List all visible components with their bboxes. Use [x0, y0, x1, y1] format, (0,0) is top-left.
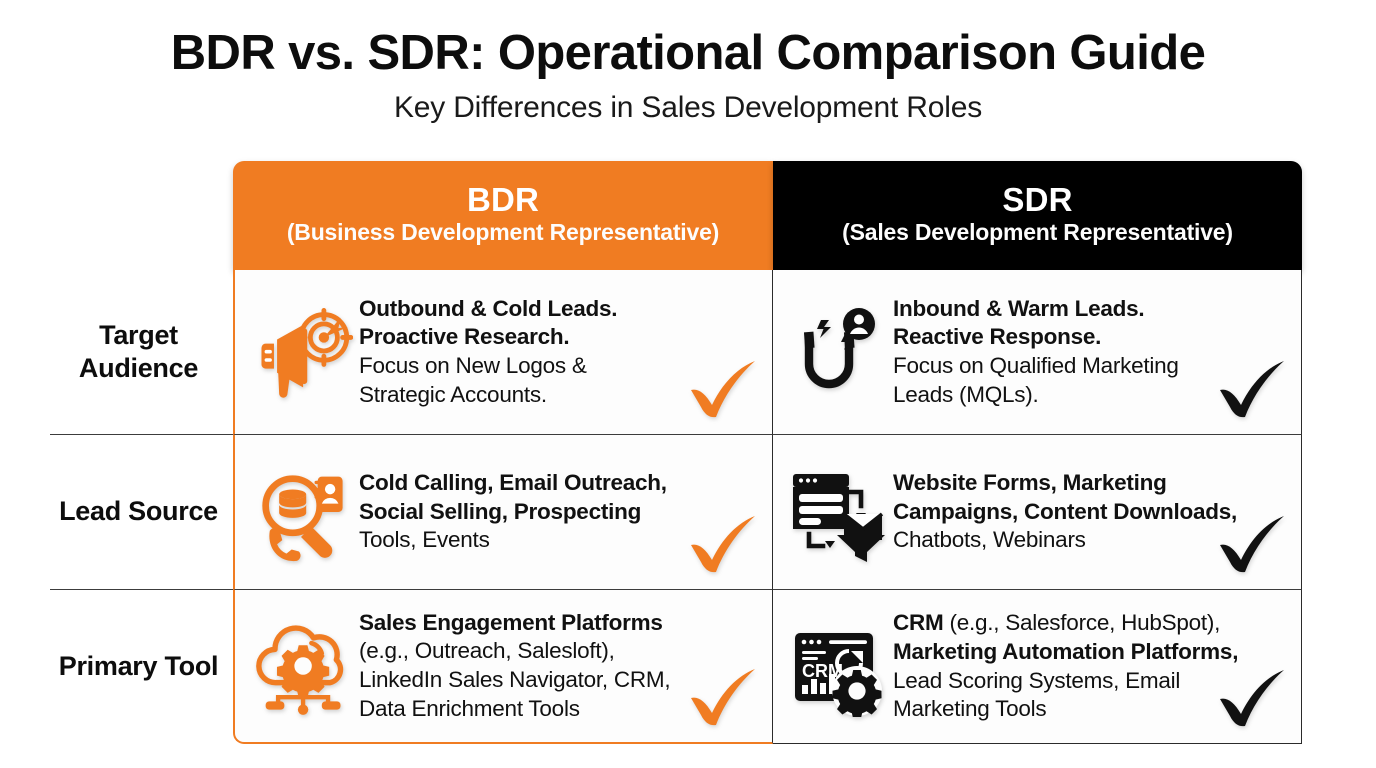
text-line: Marketing Tools	[893, 695, 1238, 724]
text-bold-segment: CRM	[893, 610, 944, 635]
column-header-sdr: SDR (Sales Development Representative)	[773, 161, 1302, 270]
magnet-person-icon	[787, 302, 887, 402]
text-line: Strategic Accounts.	[359, 381, 702, 410]
column-header-bdr: BDR (Business Development Representative…	[233, 161, 773, 270]
row-label-line1: Lead	[59, 496, 121, 526]
text-line: Outbound & Cold Leads.	[359, 295, 702, 324]
column-header-bdr-full: (Business Development Representative)	[287, 219, 719, 246]
text-line: Website Forms, Marketing	[893, 469, 1237, 498]
text-line: LinkedIn Sales Navigator, CRM,	[359, 666, 702, 695]
row-label-primary-tool: Primary Tool	[50, 589, 233, 744]
column-header-bdr-abbr: BDR	[467, 182, 539, 219]
page-title: BDR vs. SDR: Operational Comparison Guid…	[0, 28, 1376, 80]
magnifier-database-contact-phone-icon	[249, 460, 353, 564]
crm-dashboard-gear-icon: CRM	[787, 617, 887, 717]
row-label-line1: Target	[99, 320, 178, 350]
black-checkmark-icon	[1215, 358, 1289, 420]
row-label-lead-source: Lead Source	[50, 434, 233, 589]
text-line: Leads (MQLs).	[893, 381, 1231, 410]
cell-sdr-primary-tool: CRM	[773, 589, 1302, 744]
text-line: Lead Scoring Systems, Email	[893, 667, 1238, 696]
orange-checkmark-icon	[686, 513, 760, 575]
infographic-page: BDR vs. SDR: Operational Comparison Guid…	[0, 0, 1376, 768]
text-line: Inbound & Warm Leads.	[893, 295, 1231, 324]
row-label-line2: Audience	[79, 353, 198, 383]
text-line: Marketing Automation Platforms,	[893, 638, 1238, 667]
text-line-crm: CRM (e.g., Salesforce, HubSpot),	[893, 609, 1238, 638]
page-subtitle: Key Differences in Sales Development Rol…	[0, 91, 1376, 124]
title-block: BDR vs. SDR: Operational Comparison Guid…	[0, 28, 1376, 124]
text-line: Data Enrichment Tools	[359, 695, 702, 724]
row-label-line2: Source	[128, 496, 218, 526]
row-label-line2: Tool	[164, 651, 218, 681]
text-line: Cold Calling, Email Outreach,	[359, 469, 702, 498]
text-line: Tools, Events	[359, 526, 702, 555]
text-line: Focus on Qualified Marketing	[893, 352, 1231, 381]
column-header-sdr-abbr: SDR	[1002, 182, 1072, 219]
cell-bdr-primary-tool: Sales Engagement Platforms (e.g., Outrea…	[233, 589, 773, 744]
row-label-line1: Primary	[59, 651, 157, 681]
orange-checkmark-icon	[686, 666, 760, 728]
text-line: (e.g., Outreach, Salesloft),	[359, 637, 702, 666]
comparison-table: BDR (Business Development Representative…	[50, 161, 1302, 744]
text-line: Focus on New Logos &	[359, 352, 702, 381]
table-corner-cell	[50, 161, 233, 270]
cell-bdr-lead-source: Cold Calling, Email Outreach, Social Sel…	[233, 434, 773, 589]
orange-checkmark-icon	[686, 358, 760, 420]
cloud-gear-network-icon	[249, 614, 353, 718]
text-line: Proactive Research.	[359, 323, 702, 352]
column-header-sdr-full: (Sales Development Representative)	[842, 219, 1233, 246]
megaphone-target-icon	[249, 300, 353, 404]
text-line: Reactive Response.	[893, 323, 1231, 352]
cell-sdr-target-audience: Inbound & Warm Leads. Reactive Response.…	[773, 270, 1302, 434]
text-line: Social Selling, Prospecting	[359, 498, 702, 527]
cell-sdr-lead-source: Website Forms, Marketing Campaigns, Cont…	[773, 434, 1302, 589]
cell-bdr-target-audience: Outbound & Cold Leads. Proactive Researc…	[233, 270, 773, 434]
black-checkmark-icon	[1215, 513, 1289, 575]
text-line: Chatbots, Webinars	[893, 526, 1237, 555]
black-checkmark-icon	[1215, 667, 1289, 729]
text-normal-segment: (e.g., Salesforce, HubSpot),	[944, 610, 1221, 635]
web-form-envelope-funnel-icon	[787, 462, 887, 562]
text-line: Campaigns, Content Downloads,	[893, 498, 1237, 527]
row-label-target-audience: Target Audience	[50, 270, 233, 434]
text-line: Sales Engagement Platforms	[359, 609, 702, 638]
